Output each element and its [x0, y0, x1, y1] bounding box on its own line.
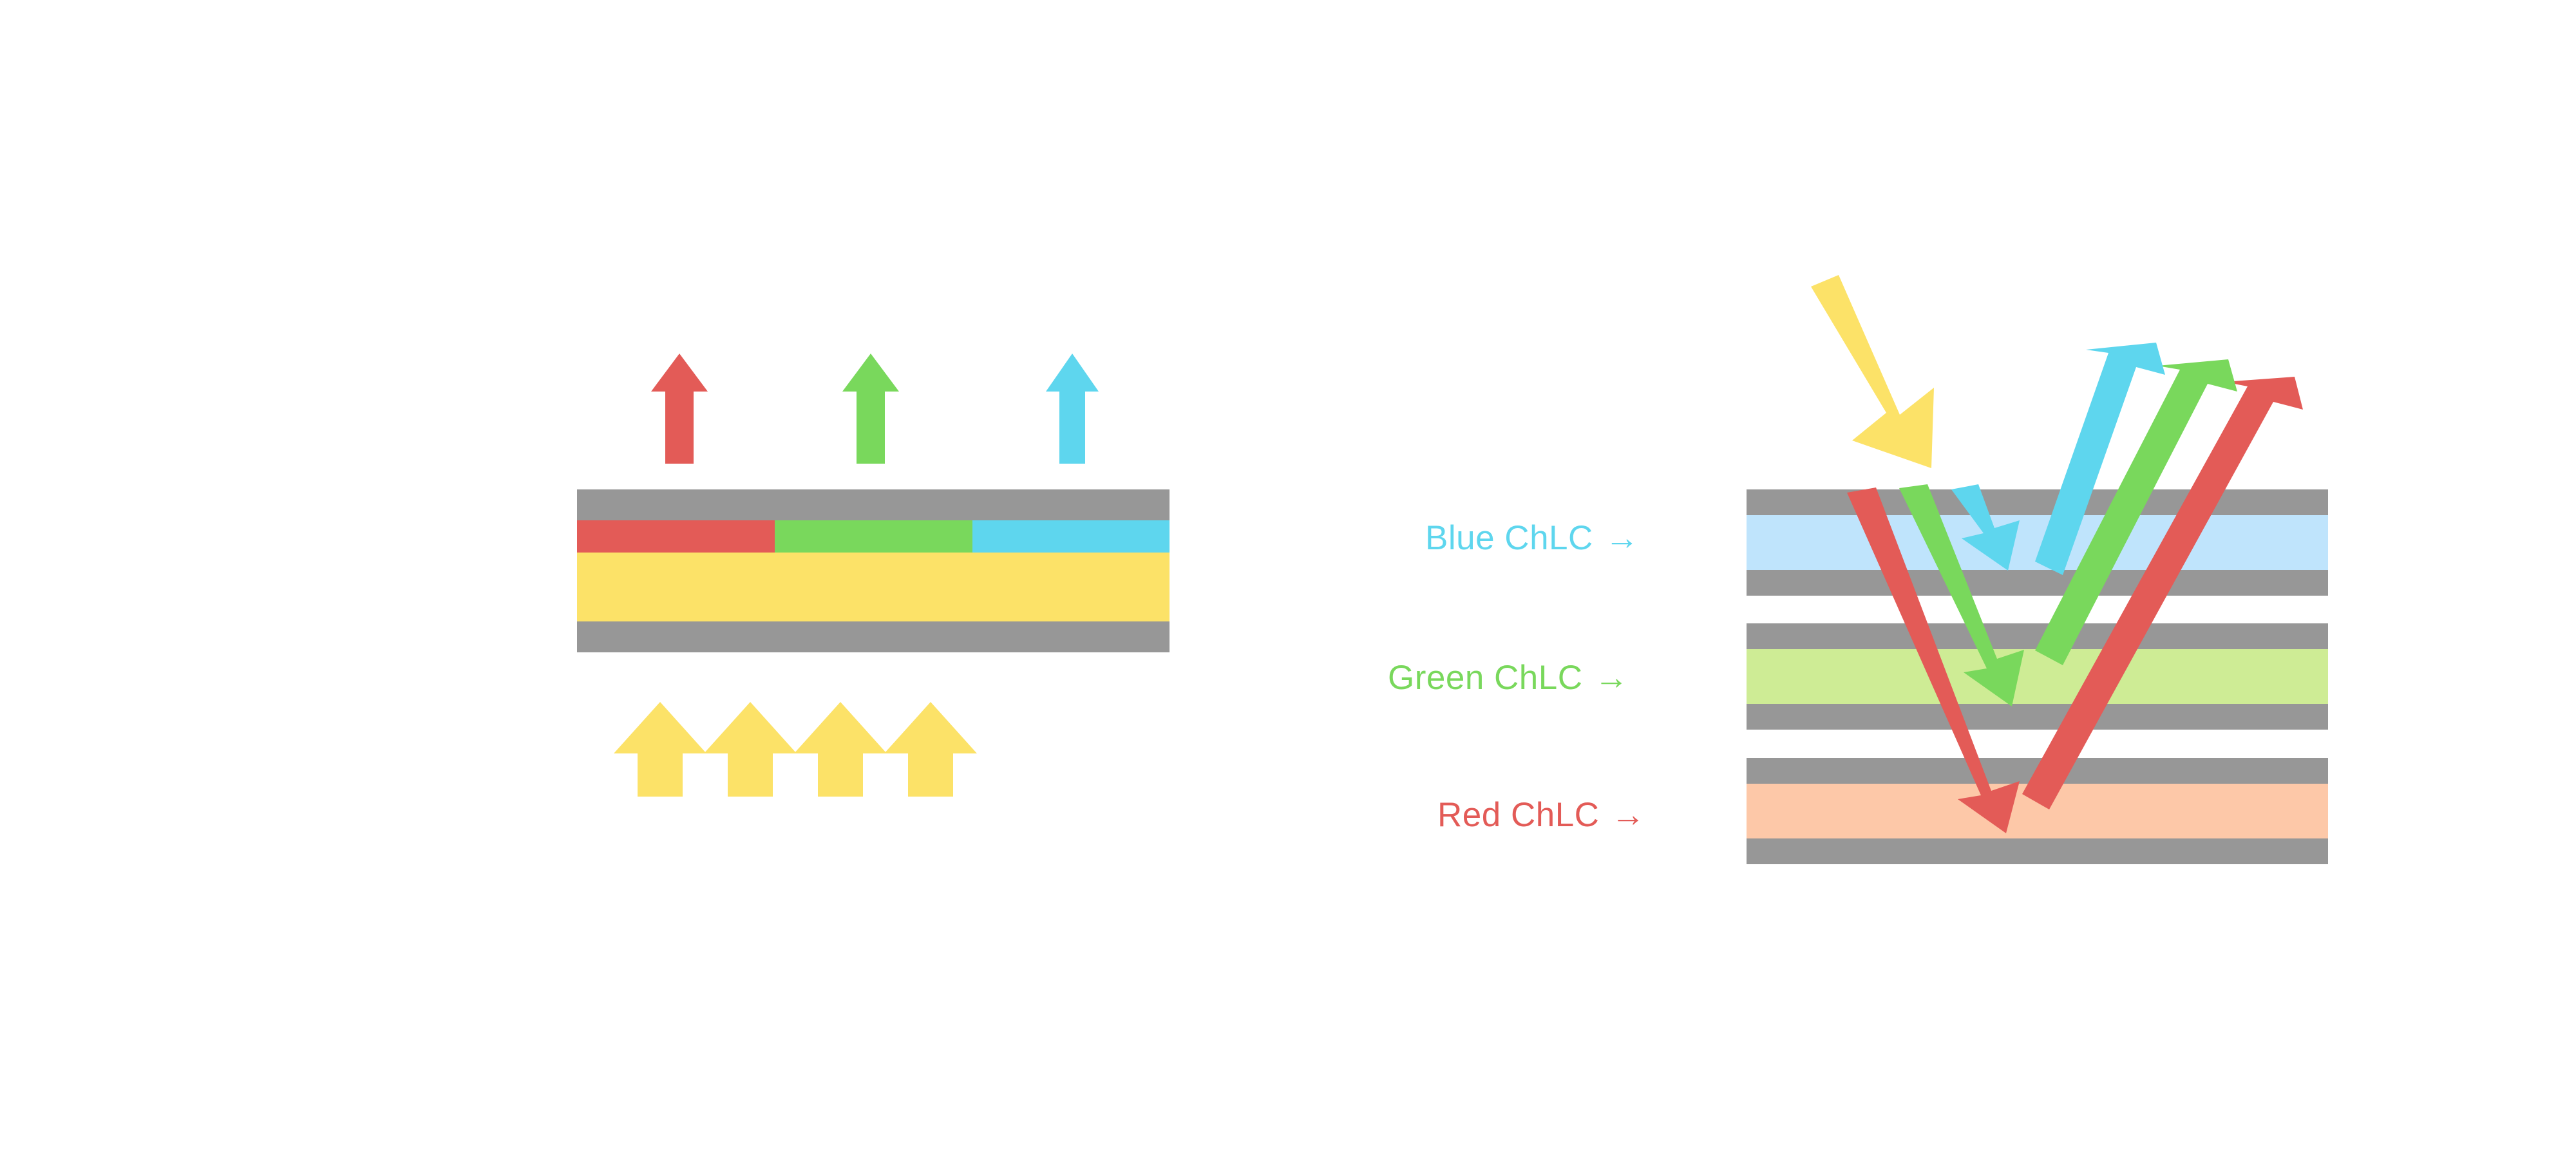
red-segment: [577, 520, 775, 553]
diagram-svg: [0, 0, 2576, 1154]
emitted-green-arrow: [842, 354, 899, 464]
backlight-layer: [577, 553, 1170, 621]
transmissive-stack: [577, 489, 1170, 652]
red-chlc-label: Red ChLC→: [1437, 795, 1645, 835]
backlight-arrow-3: [794, 702, 887, 797]
red-chlc-label-arrow: →: [1611, 796, 1645, 834]
green-chlc-cell: [1747, 623, 2328, 730]
blue-chlc-label: Blue ChLC→: [1425, 518, 1639, 558]
backlight-arrow-1: [614, 702, 706, 797]
diagram-canvas: Blue ChLC→ Green ChLC→ Red ChLC→: [0, 0, 2576, 1154]
backlight-arrow-2: [704, 702, 797, 797]
bottom-electrode-layer: [577, 621, 1170, 652]
emitted-blue-arrow: [1046, 354, 1099, 464]
right-panel-reflective-stack: [1747, 275, 2328, 864]
green-chlc-layer: [1747, 649, 2328, 704]
red-cell-bottom-electrode: [1747, 838, 2328, 864]
blue-chlc-label-text: Blue ChLC: [1425, 519, 1593, 557]
color-filter-layer: [577, 520, 1170, 553]
green-chlc-label: Green ChLC→: [1388, 658, 1629, 697]
blue-segment: [972, 520, 1170, 553]
blue-cell-bottom-electrode: [1747, 570, 2328, 596]
green-chlc-label-arrow: →: [1595, 659, 1629, 697]
green-chlc-label-text: Green ChLC: [1388, 659, 1583, 697]
red-chlc-label-text: Red ChLC: [1437, 796, 1599, 834]
blue-cell-top-electrode: [1747, 489, 2328, 515]
left-panel-transmissive-stack: [577, 354, 1170, 797]
blue-chlc-cell: [1747, 489, 2328, 596]
blue-chlc-label-arrow: →: [1605, 519, 1640, 557]
incident-white-light-arrow: [1811, 275, 1934, 468]
green-segment: [775, 520, 972, 553]
backlight-arrow-4: [884, 702, 977, 797]
green-cell-bottom-electrode: [1747, 704, 2328, 730]
emitted-red-arrow: [651, 354, 708, 464]
green-cell-top-electrode: [1747, 623, 2328, 649]
top-electrode-layer: [577, 489, 1170, 520]
